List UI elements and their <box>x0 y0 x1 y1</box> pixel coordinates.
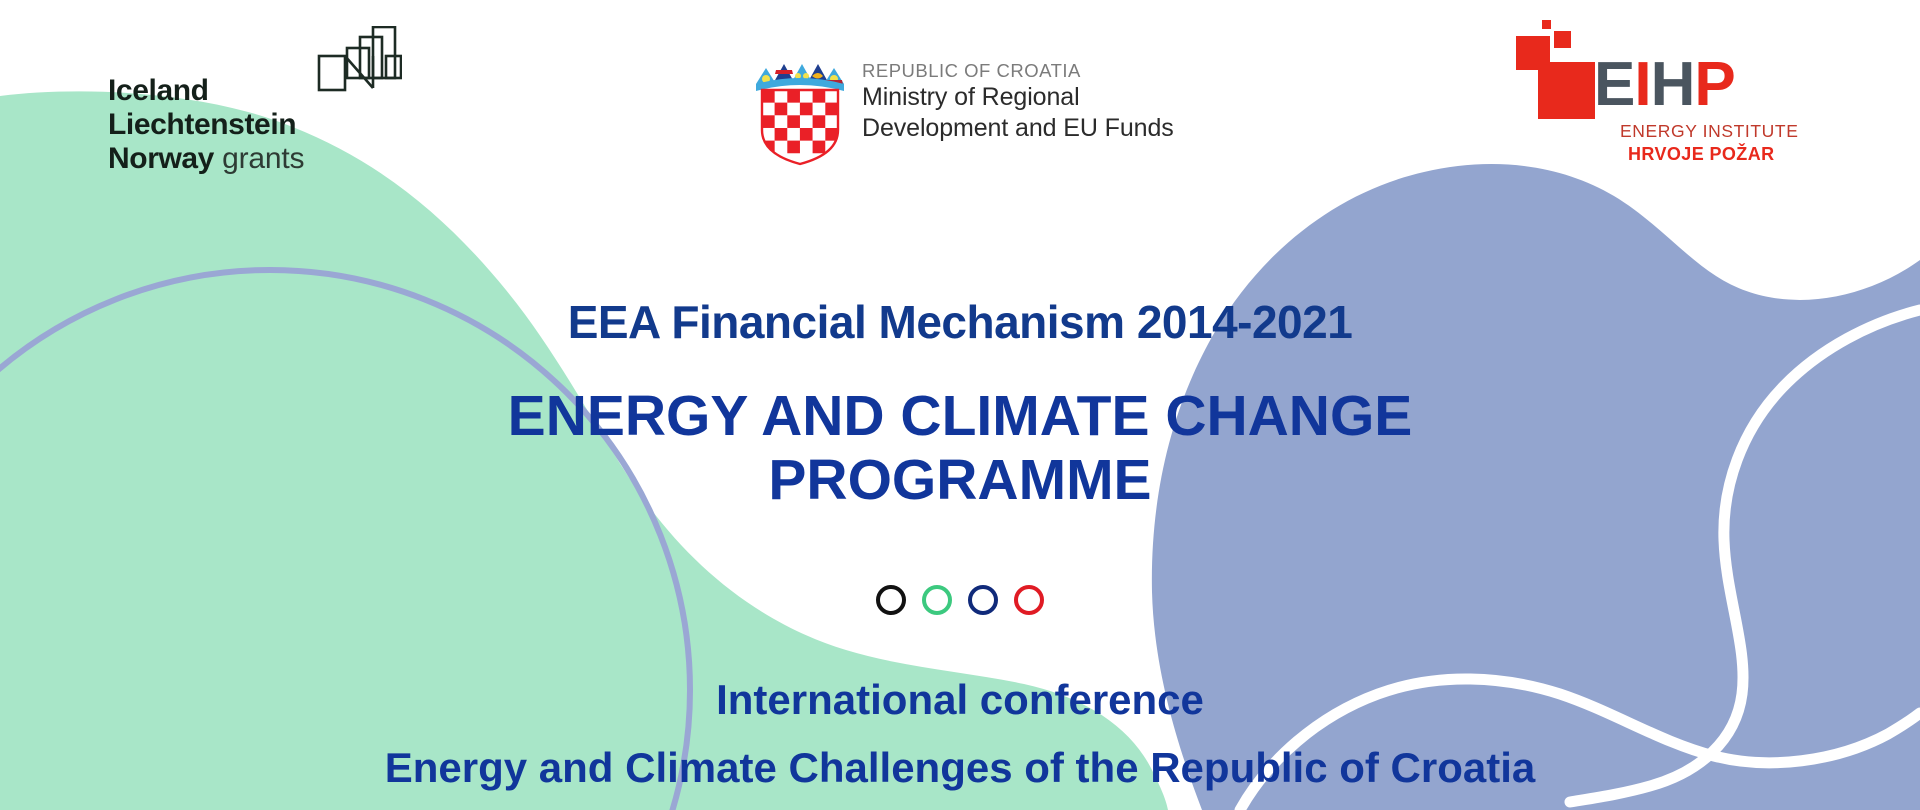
eea-mechanism-heading: EEA Financial Mechanism 2014-2021 <box>0 295 1920 349</box>
banner-content: EEA Financial Mechanism 2014-2021 ENERGY… <box>0 0 1920 810</box>
dot-navy <box>968 585 998 615</box>
dot-separator <box>0 585 1920 615</box>
dot-green <box>922 585 952 615</box>
conference-label: International conference <box>0 676 1920 724</box>
conference-title: Energy and Climate Challenges of the Rep… <box>0 744 1920 792</box>
banner-canvas: Iceland Liechtenstein Norway grants <box>0 0 1920 810</box>
programme-title-line2: PROGRAMME <box>0 449 1920 513</box>
dot-red <box>1014 585 1044 615</box>
programme-title: ENERGY AND CLIMATE CHANGE PROGRAMME <box>0 385 1920 513</box>
dot-black <box>876 585 906 615</box>
programme-title-line1: ENERGY AND CLIMATE CHANGE <box>0 385 1920 449</box>
